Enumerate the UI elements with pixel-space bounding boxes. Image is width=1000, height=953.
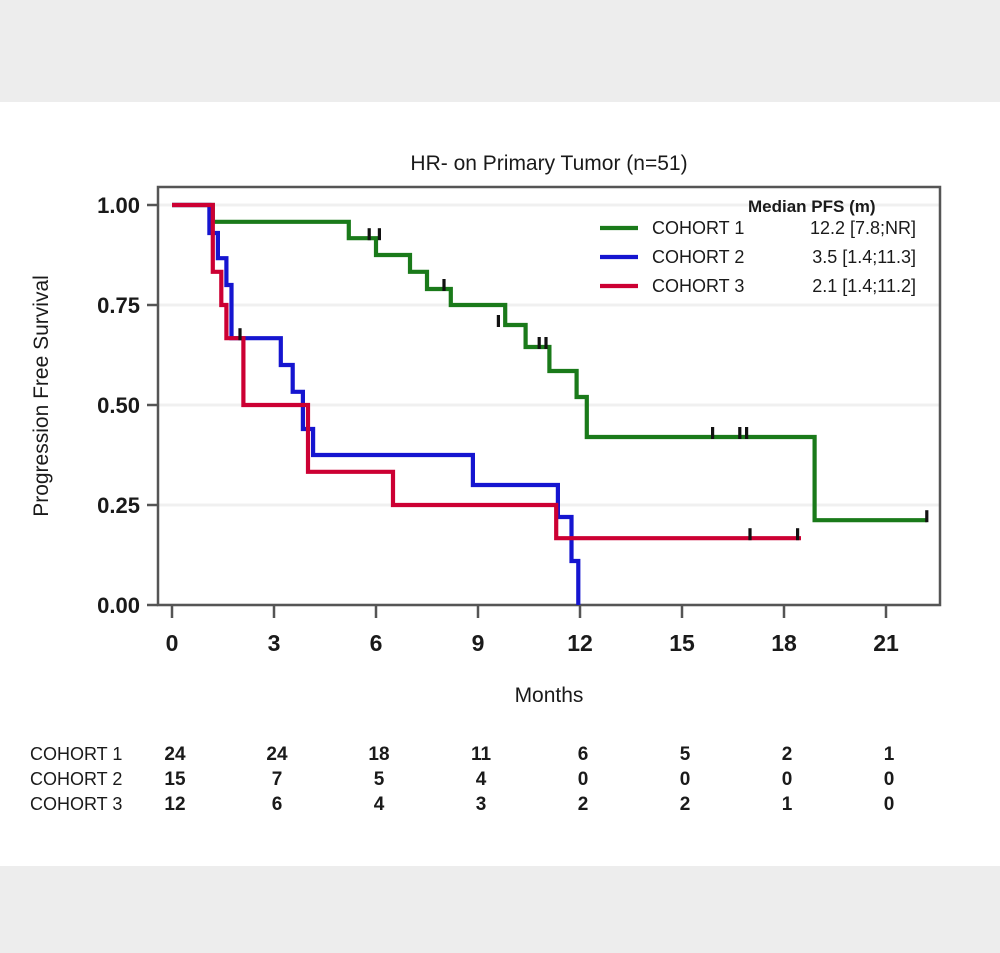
- bottom-background-band: [0, 866, 1000, 953]
- legend-header: Median PFS (m): [748, 197, 876, 216]
- x-tick-label: 21: [873, 630, 899, 656]
- x-tick-label: 18: [771, 630, 797, 656]
- risk-row-label: COHORT 1: [30, 744, 122, 764]
- risk-count: 4: [374, 794, 385, 815]
- censor-marks: [240, 228, 927, 540]
- risk-count: 5: [374, 769, 385, 790]
- risk-count: 24: [164, 744, 186, 765]
- risk-count: 0: [884, 794, 895, 815]
- risk-count: 24: [266, 744, 288, 765]
- legend-label: COHORT 2: [652, 247, 744, 267]
- y-tick-label: 1.00: [97, 193, 140, 218]
- risk-count: 12: [164, 794, 185, 815]
- risk-count: 1: [782, 794, 793, 815]
- risk-count: 5: [680, 744, 691, 765]
- kaplan-meier-figure: 0.000.250.500.751.00 036912151821 HR- on…: [0, 102, 1000, 866]
- legend-median-pfs: 12.2 [7.8;NR]: [810, 218, 916, 238]
- risk-count: 2: [578, 794, 589, 815]
- legend-median-pfs: 2.1 [1.4;11.2]: [812, 276, 916, 296]
- x-tick-label: 0: [166, 630, 179, 656]
- risk-table: COHORT 1242418116521COHORT 2157540000COH…: [30, 744, 895, 815]
- risk-count: 6: [272, 794, 283, 815]
- x-axis-label: Months: [515, 684, 584, 707]
- top-background-band: [0, 0, 1000, 102]
- risk-count: 6: [578, 744, 589, 765]
- x-tick-label: 12: [567, 630, 593, 656]
- legend: Median PFS (m)COHORT 112.2 [7.8;NR]COHOR…: [600, 197, 916, 296]
- risk-count: 7: [272, 769, 283, 790]
- risk-count: 2: [680, 794, 691, 815]
- risk-count: 11: [471, 744, 492, 765]
- legend-median-pfs: 3.5 [1.4;11.3]: [812, 247, 916, 267]
- risk-count: 4: [476, 769, 487, 790]
- risk-row-label: COHORT 3: [30, 794, 122, 814]
- y-axis-ticks: 0.000.250.500.751.00: [97, 193, 158, 618]
- risk-count: 0: [884, 769, 895, 790]
- legend-label: COHORT 3: [652, 276, 744, 296]
- risk-count: 0: [578, 769, 589, 790]
- risk-count: 3: [476, 794, 487, 815]
- y-tick-label: 0.50: [97, 393, 140, 418]
- y-tick-label: 0.00: [97, 593, 140, 618]
- chart-title: HR- on Primary Tumor (n=51): [410, 152, 687, 175]
- risk-row-label: COHORT 2: [30, 769, 122, 789]
- risk-count: 1: [884, 744, 895, 765]
- chart-svg: 0.000.250.500.751.00 036912151821 HR- on…: [0, 102, 1000, 866]
- x-tick-label: 15: [669, 630, 695, 656]
- x-tick-label: 9: [472, 630, 485, 656]
- y-tick-label: 0.75: [97, 293, 140, 318]
- risk-count: 15: [164, 769, 186, 790]
- y-tick-label: 0.25: [97, 493, 140, 518]
- legend-label: COHORT 1: [652, 218, 744, 238]
- risk-count: 0: [782, 769, 793, 790]
- screenshot-root: 0.000.250.500.751.00 036912151821 HR- on…: [0, 0, 1000, 953]
- x-axis-ticks: 036912151821: [166, 605, 899, 656]
- risk-count: 18: [368, 744, 389, 765]
- figure-canvas: 0.000.250.500.751.00 036912151821 HR- on…: [0, 102, 1000, 866]
- risk-count: 0: [680, 769, 691, 790]
- x-tick-label: 3: [268, 630, 281, 656]
- y-axis-label: Progression Free Survival: [30, 275, 53, 517]
- x-tick-label: 6: [370, 630, 383, 656]
- risk-count: 2: [782, 744, 793, 765]
